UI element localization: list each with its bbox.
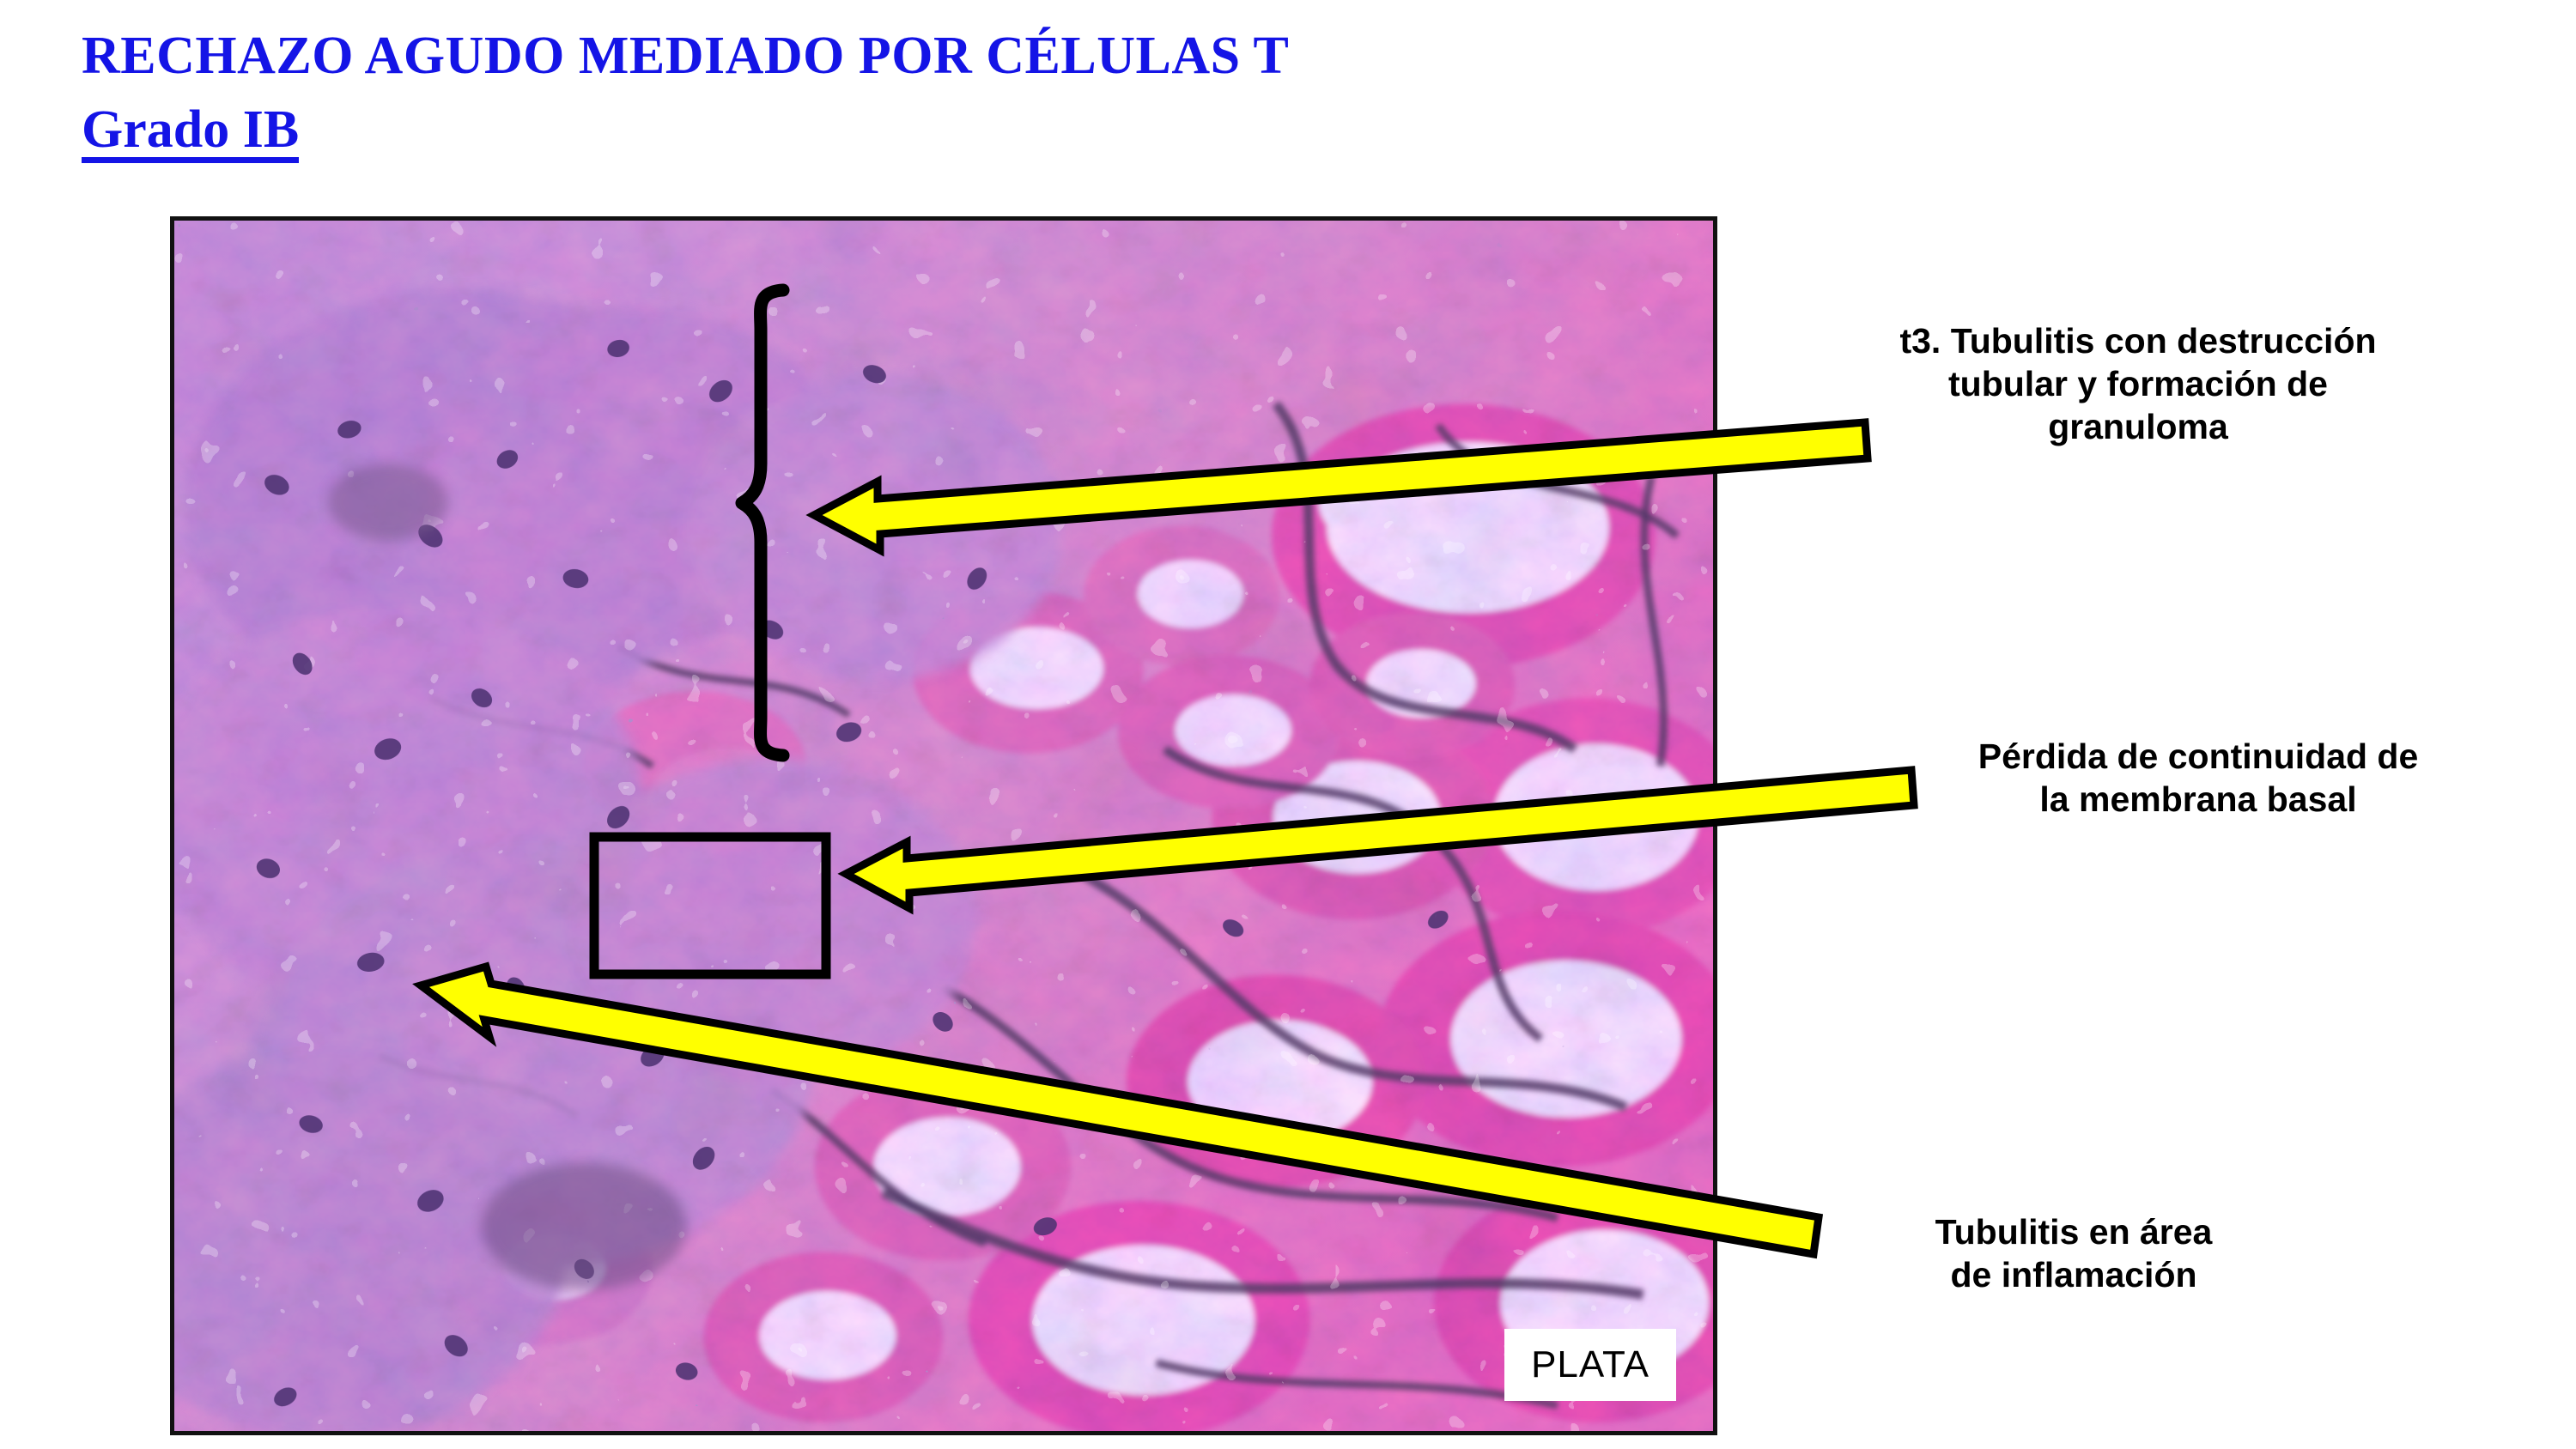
callout-label-tubulitis-inflammation: Tubulitis en área de inflamación — [1859, 1210, 2288, 1296]
stain-label: PLATA — [1504, 1329, 1676, 1401]
callout-label-tubulitis-granuloma: t3. Tubulitis con destrucción tubular y … — [1838, 319, 2439, 448]
title-block: RECHAZO AGUDO MEDIADO POR CÉLULAS T Grad… — [82, 29, 1713, 163]
page-subtitle: Grado IB — [82, 103, 299, 163]
page-title: RECHAZO AGUDO MEDIADO POR CÉLULAS T — [82, 29, 1713, 82]
histology-image-panel — [170, 216, 1717, 1435]
histology-micrograph — [174, 221, 1713, 1431]
callout-label-basement-membrane: Pérdida de continuidad de la membrana ba… — [1915, 735, 2482, 821]
